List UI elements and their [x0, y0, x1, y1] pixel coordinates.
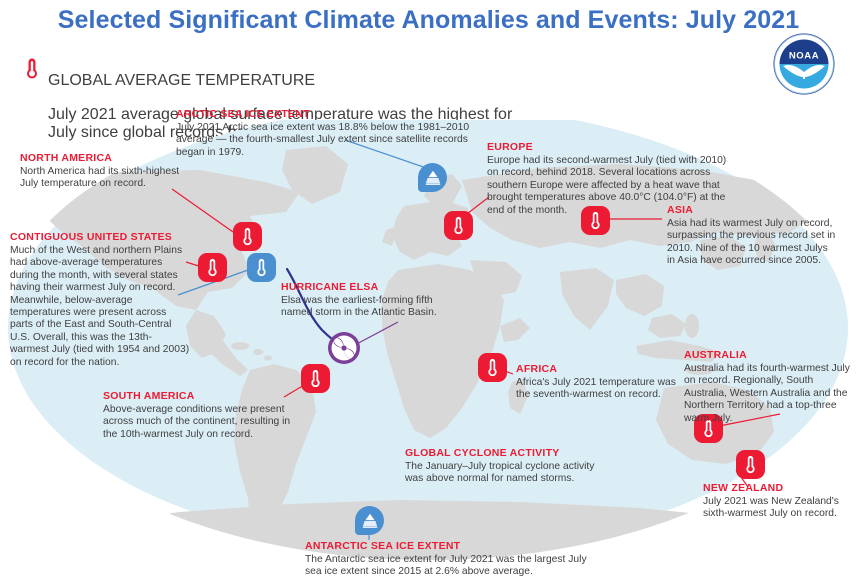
- callout-body: North America had its sixth-highest July…: [20, 166, 198, 191]
- callout-body: Above-average conditions were present ac…: [103, 404, 293, 441]
- thermometer-icon: [205, 258, 220, 277]
- page-title: Selected Significant Climate Anomalies a…: [0, 6, 857, 35]
- marker-south-america[interactable]: [301, 364, 330, 393]
- marker-contiguous-us-cool[interactable]: [247, 253, 276, 282]
- callout-new-zealand: NEW ZEALAND July 2021 was New Zealand's …: [703, 482, 857, 521]
- marker-north-america[interactable]: [233, 222, 262, 251]
- callout-heading: AFRICA: [516, 363, 686, 376]
- callout-hurricane-elsa: HURRICANE ELSA Elsa was the earliest-for…: [281, 281, 461, 320]
- callout-heading: ASIA: [667, 204, 837, 217]
- callout-body: July 2021 was New Zealand's sixth-warmes…: [703, 496, 857, 521]
- callout-heading: CONTIGUOUS UNITED STATES: [10, 231, 190, 244]
- callout-heading: HURRICANE ELSA: [281, 281, 461, 294]
- marker-hurricane-elsa[interactable]: [327, 331, 361, 365]
- callout-body: Australia had its fourth-warmest July on…: [684, 363, 850, 425]
- iceberg-icon: [361, 512, 379, 530]
- callout-body: The Antarctic sea ice extent for July 20…: [305, 554, 595, 579]
- callout-body: July 2021 Arctic sea ice extent was 18.8…: [176, 122, 476, 159]
- thermometer-icon: [308, 369, 323, 388]
- callout-arctic-sea-ice-extent: ARCTIC SEA ICE EXTENT July 2021 Arctic s…: [176, 108, 476, 159]
- callout-heading: GLOBAL AVERAGE TEMPERATURE: [48, 72, 544, 90]
- callout-contiguous-united-states: CONTIGUOUS UNITED STATES Much of the Wes…: [10, 231, 190, 369]
- callout-africa: AFRICA Africa's July 2021 temperature wa…: [516, 363, 686, 402]
- callout-body: The January–July tropical cyclone activi…: [405, 461, 605, 486]
- callout-asia: ASIA Asia had its warmest July on record…: [667, 204, 837, 268]
- marker-new-zealand[interactable]: [736, 450, 765, 479]
- callout-heading: ANTARCTIC SEA ICE EXTENT: [305, 540, 595, 553]
- thermometer-icon: [485, 358, 500, 377]
- callout-australia: AUSTRALIA Australia had its fourth-warme…: [684, 349, 850, 425]
- callout-heading: GLOBAL CYCLONE ACTIVITY: [405, 447, 605, 460]
- iceberg-icon: [424, 169, 442, 187]
- thermometer-icon: [24, 58, 40, 78]
- callout-heading: EUROPE: [487, 141, 737, 154]
- callout-body: Asia had its warmest July on record, sur…: [667, 218, 837, 268]
- thermometer-icon: [240, 227, 255, 246]
- callout-heading: SOUTH AMERICA: [103, 390, 293, 403]
- callout-heading: AUSTRALIA: [684, 349, 850, 362]
- callout-south-america: SOUTH AMERICA Above-average conditions w…: [103, 390, 293, 441]
- marker-contiguous-us[interactable]: [198, 253, 227, 282]
- callout-antarctic-sea-ice-extent: ANTARCTIC SEA ICE EXTENT The Antarctic s…: [305, 540, 595, 579]
- callout-global-cyclone-activity: GLOBAL CYCLONE ACTIVITY The January–July…: [405, 447, 605, 486]
- cyclone-icon: [327, 331, 361, 365]
- thermometer-icon: [254, 258, 269, 277]
- callout-heading: ARCTIC SEA ICE EXTENT: [176, 108, 476, 121]
- noaa-logo: NOAA: [773, 33, 835, 95]
- noaa-logo-text: NOAA: [789, 51, 819, 62]
- callout-body: Much of the West and northern Plains had…: [10, 245, 190, 369]
- callout-north-america: NORTH AMERICA North America had its sixt…: [20, 152, 198, 191]
- marker-africa[interactable]: [478, 353, 507, 382]
- marker-arctic-sea-ice[interactable]: [418, 163, 447, 192]
- callout-body: Africa's July 2021 temperature was the s…: [516, 377, 686, 402]
- thermometer-icon: [451, 216, 466, 235]
- marker-europe[interactable]: [444, 211, 473, 240]
- callout-body: Elsa was the earliest-forming fifth name…: [281, 295, 461, 320]
- infographic-canvas: Selected Significant Climate Anomalies a…: [0, 0, 857, 578]
- callout-heading: NORTH AMERICA: [20, 152, 198, 165]
- callout-heading: NEW ZEALAND: [703, 482, 857, 495]
- marker-antarctic-sea-ice[interactable]: [355, 506, 384, 535]
- thermometer-icon: [743, 455, 758, 474]
